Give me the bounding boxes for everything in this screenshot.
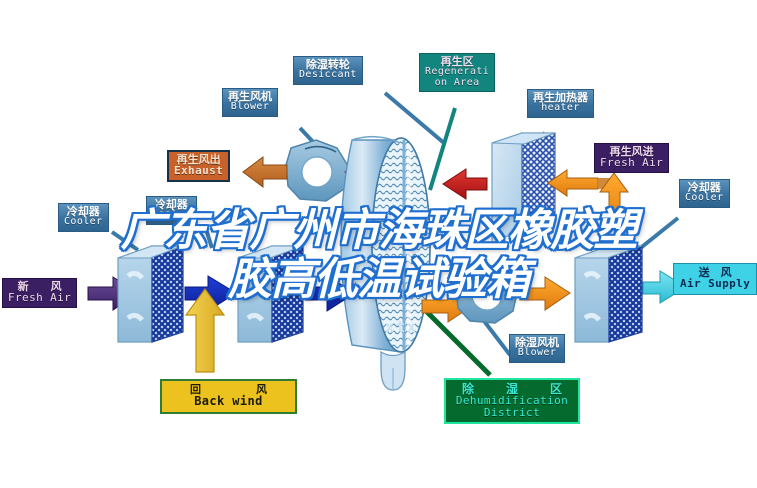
label-regeneration-area: 再生区 Regenerati on Area — [419, 53, 495, 92]
cooler-coil-right — [575, 246, 642, 342]
cooler-coil-mid — [238, 246, 303, 342]
label-regeneration-blower-en: Blower — [228, 102, 272, 112]
dehumidifier-flow-diagram: xtx 除湿转轮 Desiccant 再生风机 Blower 再生区 Regen… — [0, 0, 757, 488]
label-cooler-left-en: Cooler — [64, 217, 103, 227]
leader-cooler-left — [112, 232, 138, 250]
label-cooler-left: 冷却器 Cooler — [58, 203, 109, 232]
exhaust-arrow — [243, 157, 287, 187]
label-dehumidification-district-en2: District — [452, 407, 572, 418]
leader-cooler-mid — [205, 226, 212, 248]
leader-regen-area — [430, 108, 455, 190]
drain-pan — [381, 352, 405, 390]
label-air-supply-en: Air Supply — [680, 278, 750, 289]
regeneration-blower-unit — [286, 140, 348, 201]
label-desiccant-wheel-en: Desiccant — [299, 70, 357, 80]
label-regeneration-heater-en: heater — [533, 103, 588, 113]
label-cooler-right: 冷却器 Cooler — [679, 179, 730, 208]
label-air-supply: 送 风 Air Supply — [673, 263, 757, 295]
heater-coil — [492, 133, 555, 243]
label-regeneration-fresh-air-in-en: Fresh Air — [600, 157, 663, 168]
label-fresh-air-in: 新 风 Fresh Air — [2, 278, 77, 308]
label-dehumidification-district: 除 湿 区 Dehumidification District — [444, 378, 580, 424]
label-dehumidification-blower-en: Blower — [515, 348, 559, 358]
label-cooler-mid: 冷却器 Cooler — [146, 196, 197, 225]
label-back-wind: 回 风 Back wind — [160, 379, 297, 414]
label-exhaust: 再生风出 Exhaust — [167, 150, 230, 182]
leader-desiccant — [385, 93, 444, 143]
label-back-wind-en: Back wind — [168, 395, 289, 407]
label-exhaust-en: Exhaust — [174, 165, 223, 176]
diagram-canvas — [0, 0, 757, 488]
dehumidification-blower-unit — [456, 264, 518, 323]
label-regeneration-area-en2: on Area — [425, 78, 489, 88]
label-regeneration-heater: 再生加热器 heater — [527, 89, 594, 118]
label-cooler-right-en: Cooler — [685, 193, 724, 203]
dry-air-arrow-2 — [520, 277, 570, 310]
label-regeneration-fresh-air-in: 再生风进 Fresh Air — [594, 143, 669, 173]
rotor-faint-mark: xtx — [385, 318, 418, 336]
label-dehumidification-blower: 除湿风机 Blower — [509, 334, 565, 363]
cooler-coil-left — [118, 246, 183, 342]
regen-hot-arrow-left — [443, 169, 487, 199]
label-cooler-mid-en: Cooler — [152, 210, 191, 220]
label-desiccant-wheel: 除湿转轮 Desiccant — [293, 56, 363, 85]
label-fresh-air-in-en: Fresh Air — [8, 292, 71, 303]
label-regeneration-blower: 再生风机 Blower — [222, 88, 278, 117]
